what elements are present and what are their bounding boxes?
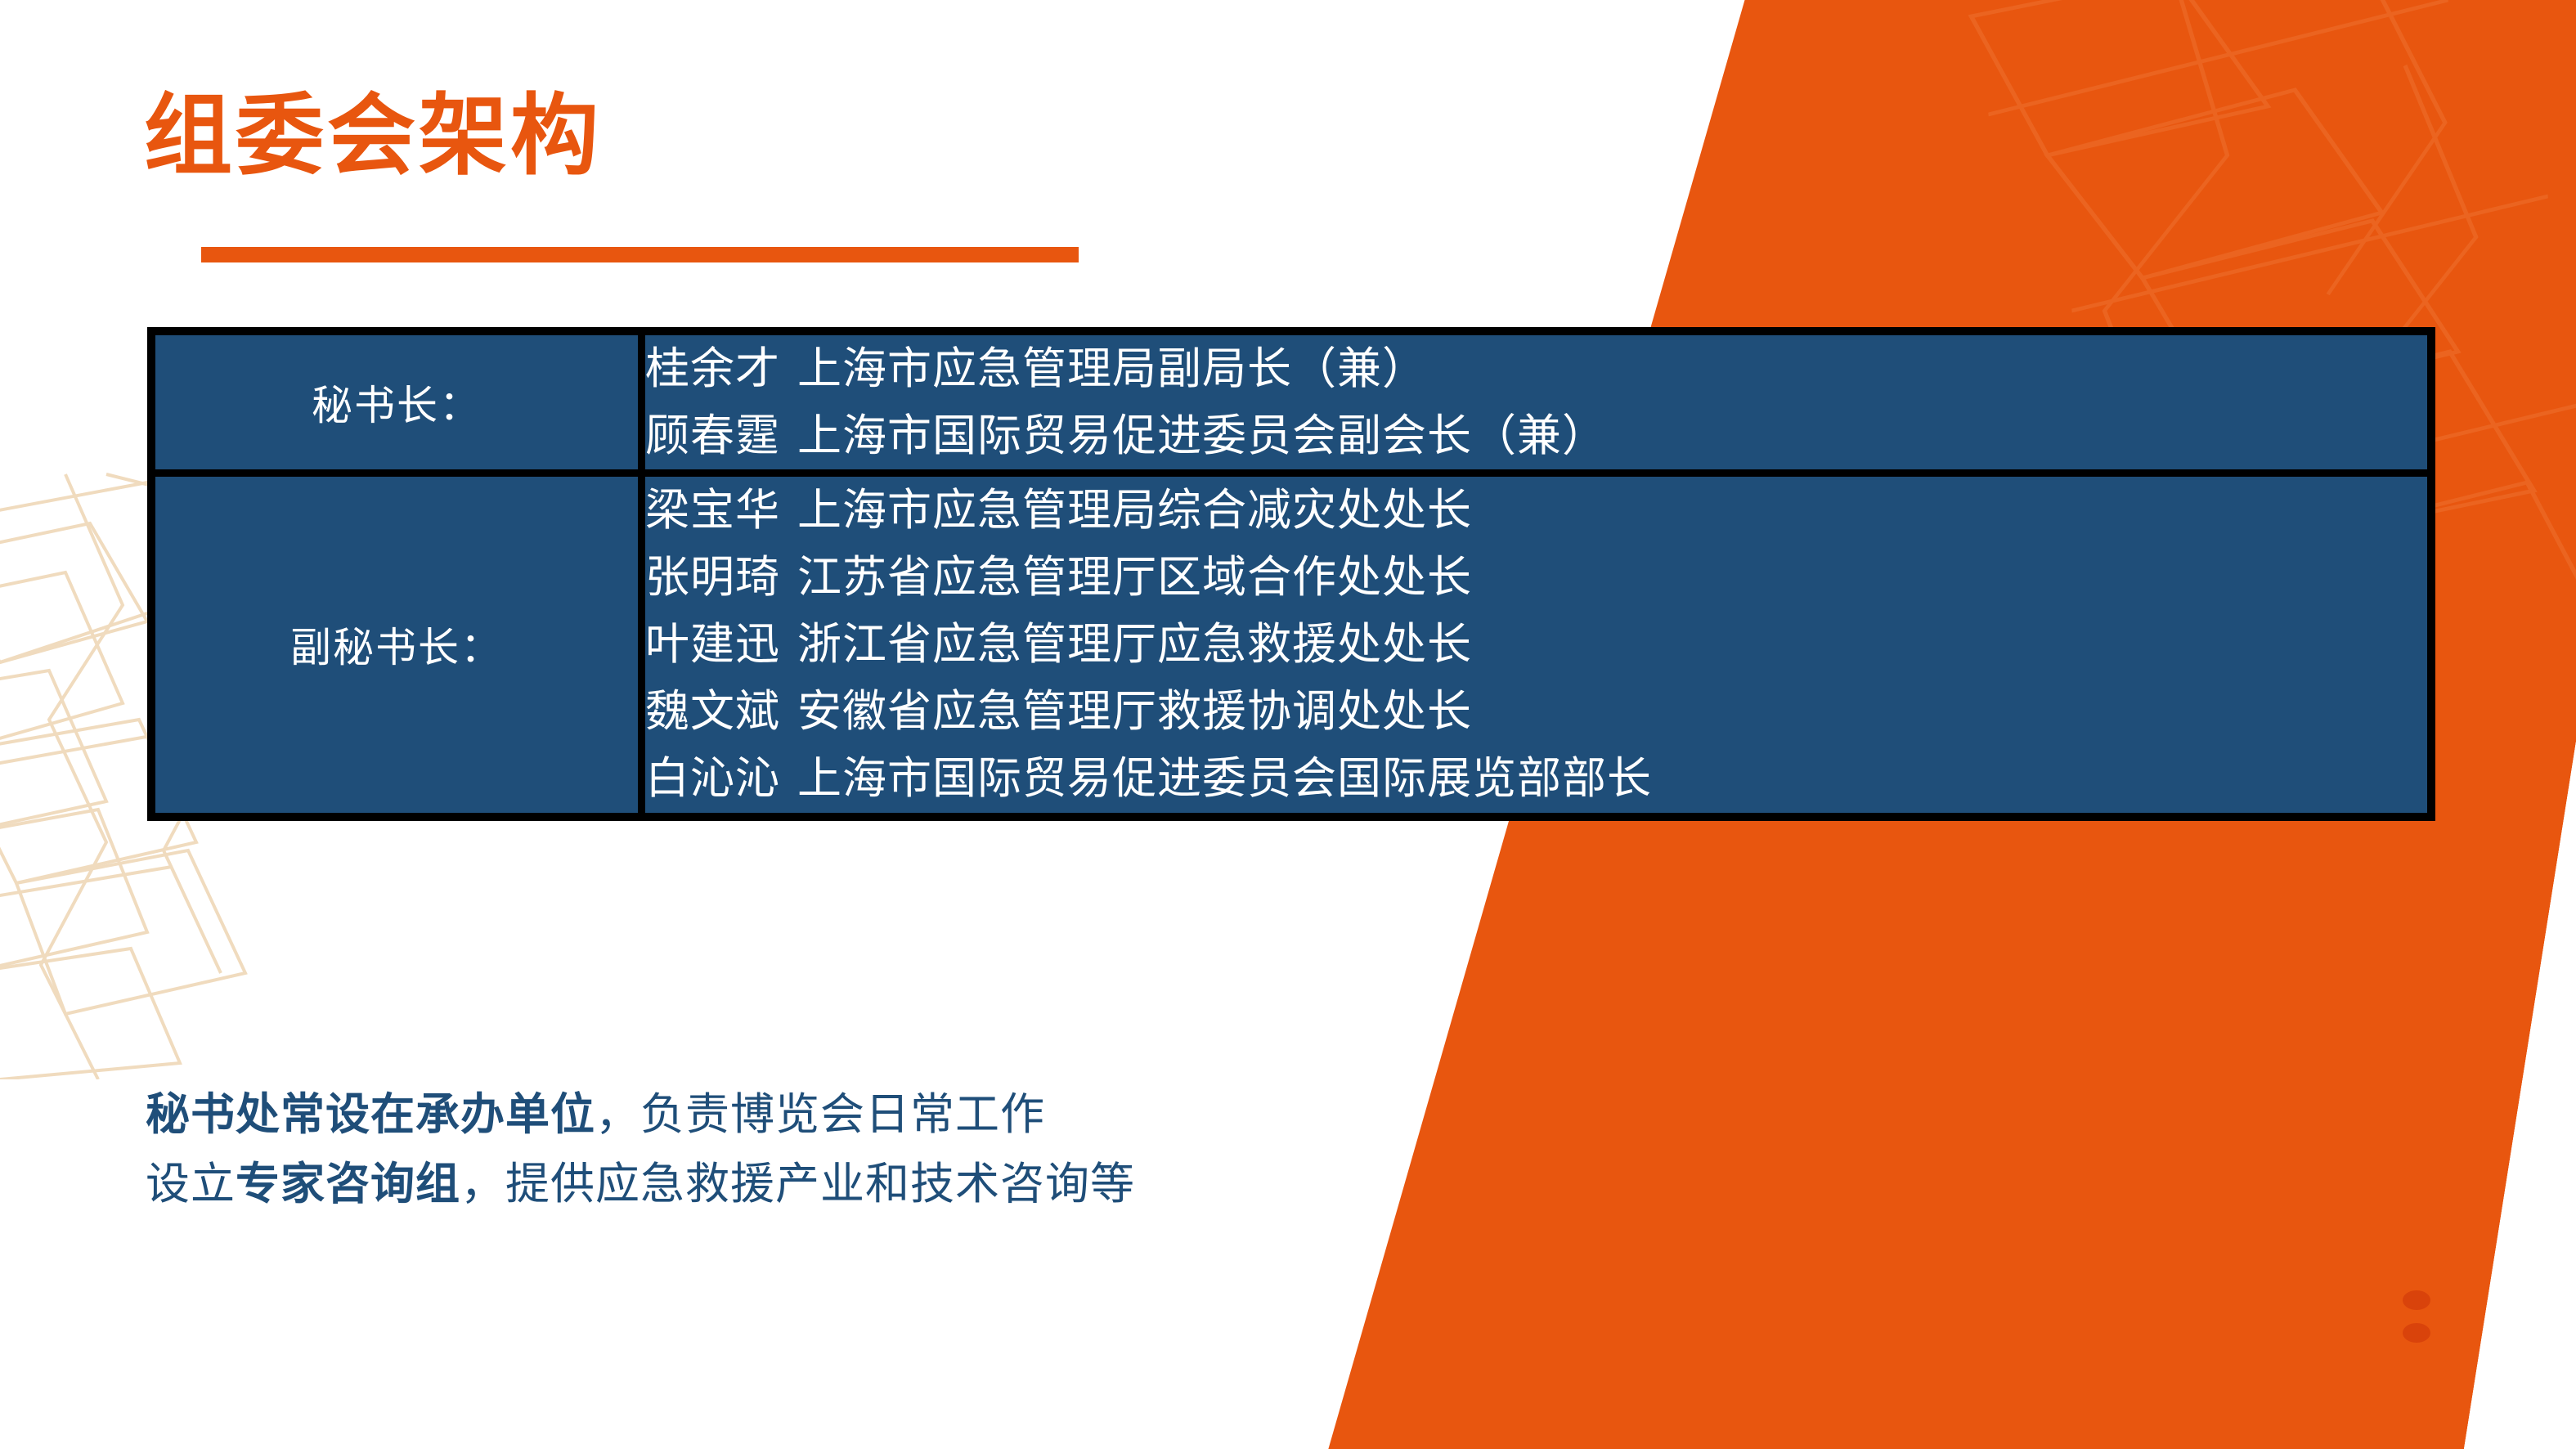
person-name: 梁宝华 <box>645 477 797 544</box>
person-name: 顾春霆 <box>645 402 797 469</box>
title-underline-rule <box>201 247 1079 262</box>
person-name: 魏文斌 <box>645 678 797 745</box>
person-name: 桂余才 <box>645 335 797 402</box>
accent-vertical-line <box>2413 1063 2418 1274</box>
person-position: 上海市国际贸易促进委员会国际展览部部长 <box>797 752 1652 804</box>
people-list-secretary-general: 桂余才上海市应急管理局副局长（兼） 顾春霆上海市国际贸易促进委员会副会长（兼） <box>642 331 2432 473</box>
list-item: 张明琦江苏省应急管理厅区域合作处处长 <box>645 544 2427 611</box>
list-item: 梁宝华上海市应急管理局综合减灾处处长 <box>645 477 2427 544</box>
footnote-2-strong: 专家咨询组 <box>236 1158 460 1209</box>
table-row: 副秘书长： 梁宝华上海市应急管理局综合减灾处处长 张明琦江苏省应急管理厅区域合作… <box>151 473 2431 817</box>
footnote-2-prefix: 设立 <box>146 1158 236 1209</box>
page-title: 组委会架构 <box>144 90 602 182</box>
list-item: 顾春霆上海市国际贸易促进委员会副会长（兼） <box>645 402 2427 469</box>
person-position: 安徽省应急管理厅救援协调处处长 <box>797 685 1472 737</box>
footnote-line-2: 设立专家咨询组，提供应急救援产业和技术咨询等 <box>146 1149 1135 1218</box>
list-item: 桂余才上海市应急管理局副局长（兼） <box>645 335 2427 402</box>
list-item: 白沁沁上海市国际贸易促进委员会国际展览部部长 <box>645 745 2427 812</box>
role-label-deputy-secretary-general: 副秘书长： <box>151 473 642 817</box>
footnote-1-rest: ，负责博览会日常工作 <box>595 1088 1045 1140</box>
accent-dot-upper <box>2403 1290 2430 1310</box>
person-name: 叶建迅 <box>645 611 797 678</box>
list-item: 魏文斌安徽省应急管理厅救援协调处处长 <box>645 678 2427 745</box>
table-row: 秘书长： 桂余才上海市应急管理局副局长（兼） 顾春霆上海市国际贸易促进委员会副会… <box>151 331 2431 473</box>
person-position: 上海市应急管理局副局长（兼） <box>797 343 1427 394</box>
committee-structure-table: 秘书长： 桂余才上海市应急管理局副局长（兼） 顾春霆上海市国际贸易促进委员会副会… <box>147 327 2435 821</box>
slide-canvas: 组委会架构 秘书长： 桂余才上海市应急管理局副局长（兼） 顾春霆上海市国际贸易促… <box>0 0 2576 1449</box>
person-position: 上海市应急管理局综合减灾处处长 <box>797 484 1472 536</box>
person-position: 江苏省应急管理厅区域合作处处长 <box>797 551 1472 603</box>
person-position: 上海市国际贸易促进委员会副会长（兼） <box>797 410 1607 461</box>
footnote-line-1: 秘书处常设在承办单位，负责博览会日常工作 <box>146 1079 1135 1149</box>
person-name: 张明琦 <box>645 544 797 611</box>
people-list-deputy-secretary-general: 梁宝华上海市应急管理局综合减灾处处长 张明琦江苏省应急管理厅区域合作处处长 叶建… <box>642 473 2432 817</box>
role-label-secretary-general: 秘书长： <box>151 331 642 473</box>
footnote-2-rest: ，提供应急救援产业和技术咨询等 <box>460 1158 1135 1209</box>
person-position: 浙江省应急管理厅应急救援处处长 <box>797 618 1472 670</box>
footnote-1-strong: 秘书处常设在承办单位 <box>146 1088 595 1140</box>
person-name: 白沁沁 <box>645 745 797 812</box>
title-block: 组委会架构 <box>144 90 602 182</box>
accent-dot-lower <box>2403 1323 2430 1343</box>
list-item: 叶建迅浙江省应急管理厅应急救援处处长 <box>645 611 2427 678</box>
footnote-block: 秘书处常设在承办单位，负责博览会日常工作 设立专家咨询组，提供应急救援产业和技术… <box>146 1079 1135 1219</box>
